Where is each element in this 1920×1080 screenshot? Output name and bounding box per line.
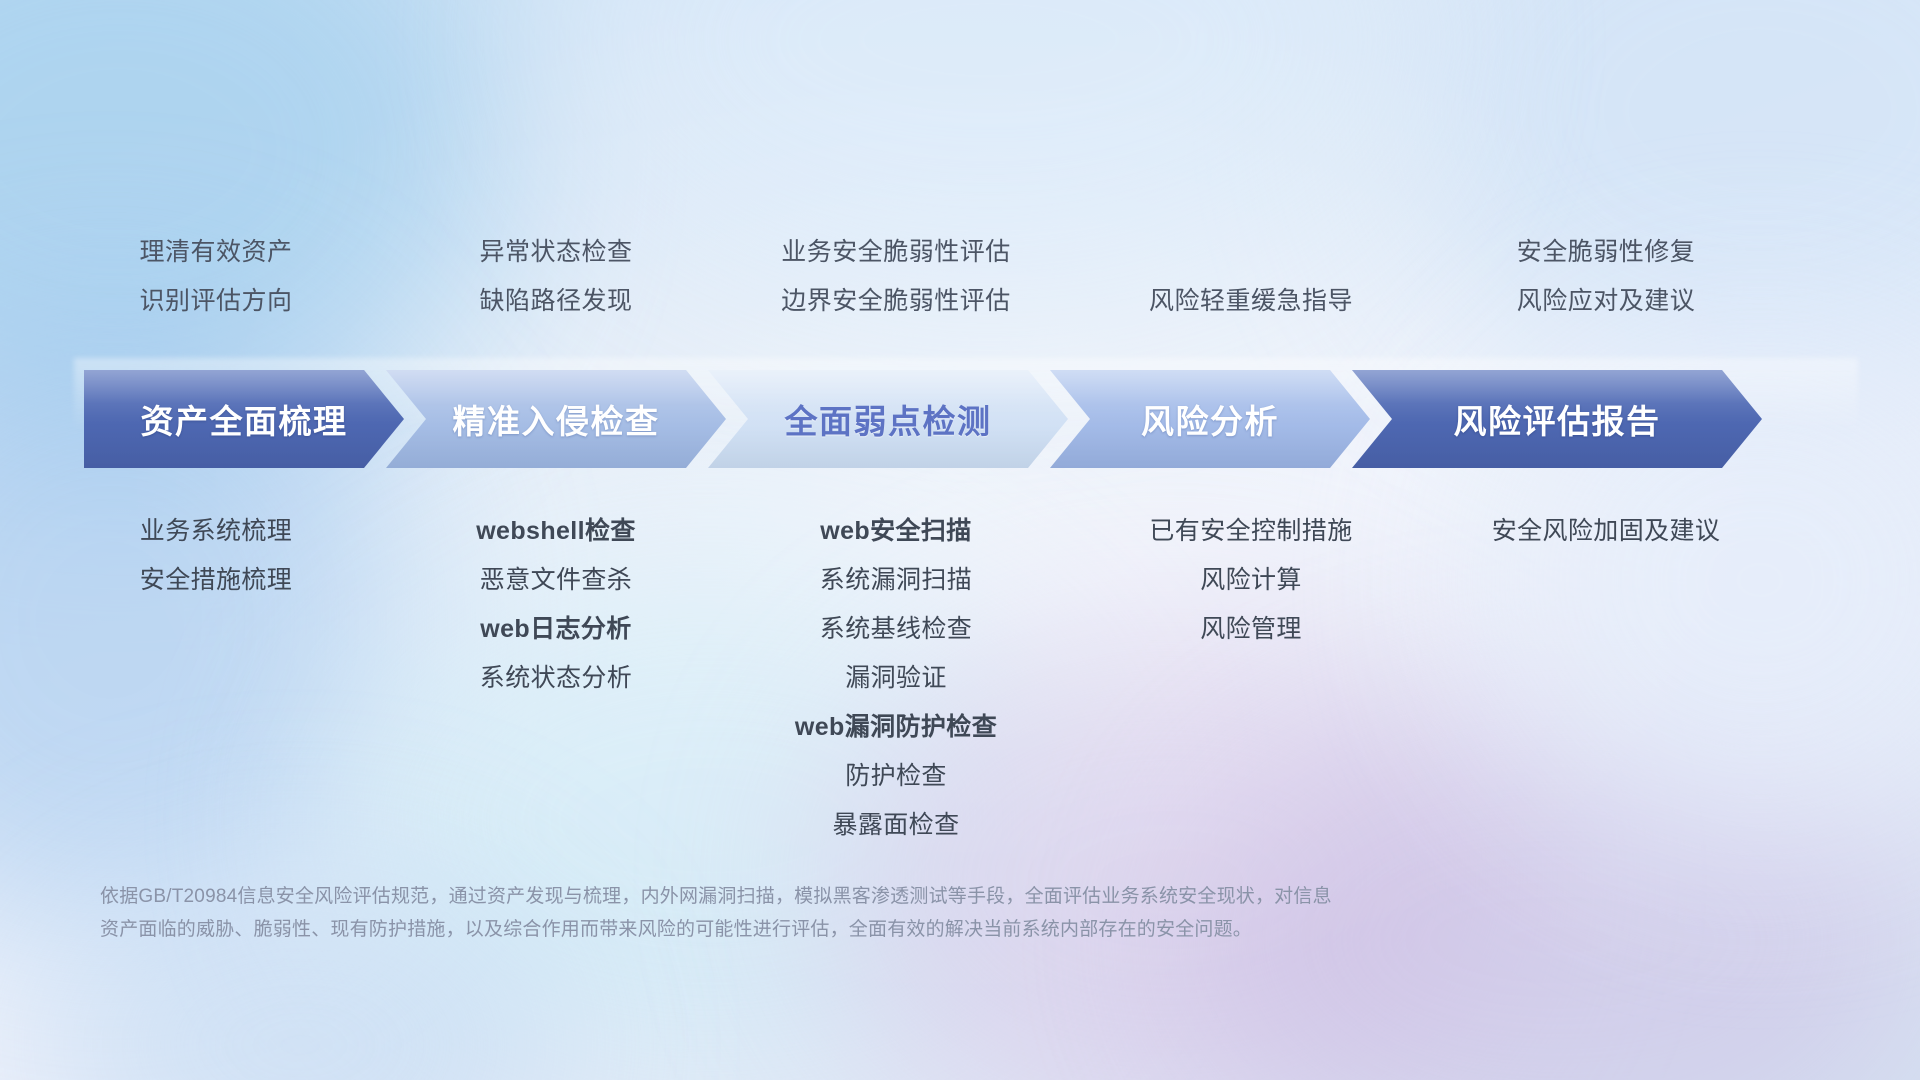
- stage-chevron-risk-report[interactable]: 风险评估报告: [1352, 370, 1762, 468]
- stage-activity-item: 安全风险加固及建议: [1416, 507, 1796, 556]
- chevron-band: 资产全面梳理 精准入侵检查 全面弱点检测 风险分析 风险评估报告: [84, 370, 1844, 468]
- process-flow-infographic: 理清有效资产 识别评估方向 异常状态检查 缺陷路径发现 业务安全脆弱性评估 边界…: [0, 0, 1920, 1080]
- stage-bottom-labels-risk-report: 安全风险加固及建议: [1416, 507, 1796, 556]
- stage-top-label: 风险应对及建议: [1416, 277, 1796, 326]
- stage-chevron-intrusion-check[interactable]: 精准入侵检查: [386, 370, 726, 468]
- stage-title: 资产全面梳理: [141, 395, 348, 443]
- stage-chevron-asset-inventory[interactable]: 资产全面梳理: [84, 370, 404, 468]
- stage-outcomes-row: 理清有效资产 识别评估方向 异常状态检查 缺陷路径发现 业务安全脆弱性评估 边界…: [0, 228, 1920, 326]
- stage-top-labels-weakness-detection: 业务安全脆弱性评估 边界安全脆弱性评估: [706, 228, 1086, 326]
- stage-chevron-risk-analysis[interactable]: 风险分析: [1050, 370, 1370, 468]
- stage-top-labels-asset-inventory: 理清有效资产 识别评估方向: [26, 228, 406, 326]
- footer-description: 依据GB/T20984信息安全风险评估规范，通过资产发现与梳理，内外网漏洞扫描，…: [100, 880, 1660, 946]
- stage-top-label: 业务安全脆弱性评估: [706, 228, 1086, 277]
- stage-activity-item: 系统状态分析: [406, 654, 706, 703]
- stage-top-labels-intrusion-check: 异常状态检查 缺陷路径发现: [406, 228, 706, 326]
- stage-activity-item: 暴露面检查: [706, 801, 1086, 850]
- stage-top-label: 安全脆弱性修复: [1416, 228, 1796, 277]
- footer-line: 资产面临的威胁、脆弱性、现有防护措施，以及综合作用而带来风险的可能性进行评估，全…: [100, 913, 1660, 946]
- stage-activity-item: 安全措施梳理: [26, 556, 406, 605]
- stage-activity-item: 系统基线检查: [706, 605, 1086, 654]
- stage-activity-item: 业务系统梳理: [26, 507, 406, 556]
- stage-top-label: 理清有效资产: [26, 228, 406, 277]
- stage-top-label: 风险轻重缓急指导: [1086, 277, 1416, 326]
- stage-activity-item: web漏洞防护检查: [706, 703, 1086, 752]
- stage-activity-item: webshell检查: [406, 507, 706, 556]
- stage-activity-item: web日志分析: [406, 605, 706, 654]
- stage-activity-item: 风险管理: [1086, 605, 1416, 654]
- stage-top-labels-risk-report: 安全脆弱性修复 风险应对及建议: [1416, 228, 1796, 326]
- stage-title: 风险分析: [1141, 395, 1279, 443]
- stage-activity-item: 防护检查: [706, 752, 1086, 801]
- stage-bottom-labels-risk-analysis: 已有安全控制措施 风险计算 风险管理: [1086, 507, 1416, 654]
- stage-title: 风险评估报告: [1454, 395, 1661, 443]
- stage-activity-item: 恶意文件查杀: [406, 556, 706, 605]
- stage-activity-item: 系统漏洞扫描: [706, 556, 1086, 605]
- stage-activity-item: 风险计算: [1086, 556, 1416, 605]
- stage-activity-item: web安全扫描: [706, 507, 1086, 556]
- stage-top-label: 识别评估方向: [26, 277, 406, 326]
- stage-activity-item: 漏洞验证: [706, 654, 1086, 703]
- stage-bottom-labels-weakness-detection: web安全扫描 系统漏洞扫描 系统基线检查 漏洞验证 web漏洞防护检查 防护检…: [706, 507, 1086, 850]
- stage-bottom-labels-intrusion-check: webshell检查 恶意文件查杀 web日志分析 系统状态分析: [406, 507, 706, 703]
- footer-line: 依据GB/T20984信息安全风险评估规范，通过资产发现与梳理，内外网漏洞扫描，…: [100, 880, 1660, 913]
- stage-title: 全面弱点检测: [785, 395, 992, 443]
- stage-title: 精准入侵检查: [453, 395, 660, 443]
- stage-bottom-labels-asset-inventory: 业务系统梳理 安全措施梳理: [26, 507, 406, 605]
- stage-top-label: 边界安全脆弱性评估: [706, 277, 1086, 326]
- stage-top-labels-risk-analysis: 风险轻重缓急指导: [1086, 228, 1416, 326]
- stage-chevron-weakness-detection[interactable]: 全面弱点检测: [708, 370, 1068, 468]
- stage-activity-item: 已有安全控制措施: [1086, 507, 1416, 556]
- stage-top-label: 异常状态检查: [406, 228, 706, 277]
- stage-top-label: 缺陷路径发现: [406, 277, 706, 326]
- stage-activities-row: 业务系统梳理 安全措施梳理 webshell检查 恶意文件查杀 web日志分析 …: [0, 507, 1920, 850]
